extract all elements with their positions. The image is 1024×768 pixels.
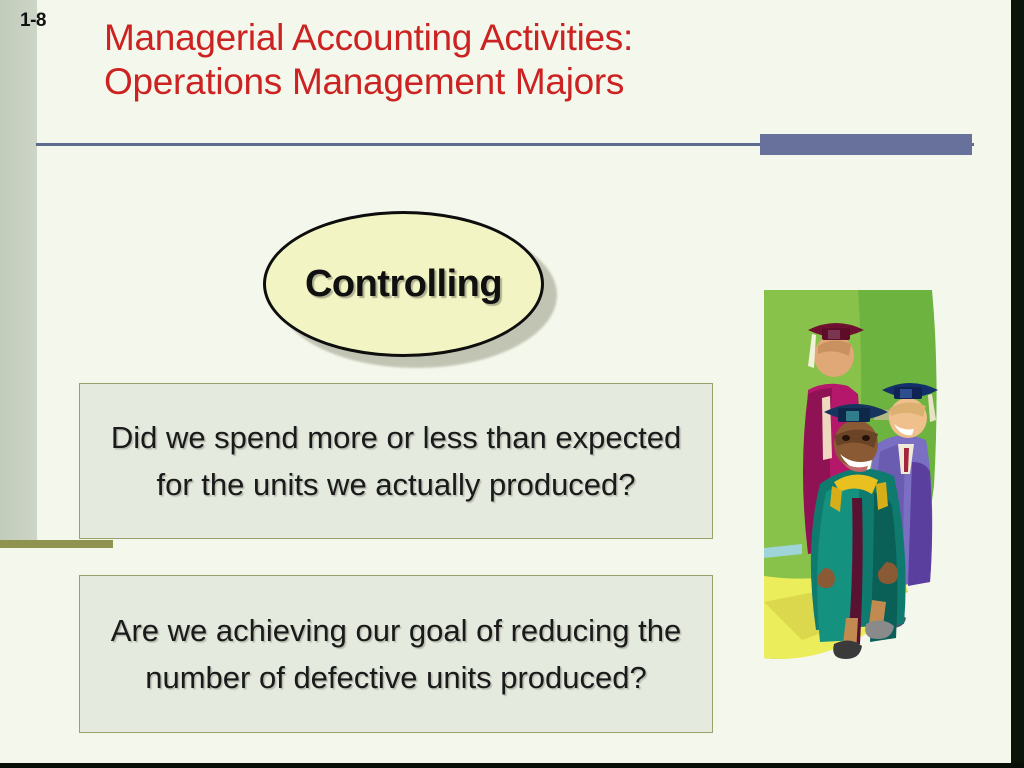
- slide-number: 1-8: [20, 10, 46, 32]
- question-box-1-text: Did we spend more or less than expected …: [80, 414, 712, 508]
- left-decorative-band: [0, 0, 37, 540]
- bottom-edge-band: [0, 763, 1024, 768]
- ellipse-label: Controlling: [305, 263, 502, 306]
- graduates-clipart-image: [762, 286, 942, 666]
- right-edge-band: [1011, 0, 1024, 768]
- question-box-2: Are we achieving our goal of reducing th…: [79, 575, 713, 733]
- question-box-2-text: Are we achieving our goal of reducing th…: [80, 607, 712, 701]
- header-divider-block: [760, 134, 972, 155]
- question-box-1: Did we spend more or less than expected …: [79, 383, 713, 539]
- presentation-slide: 1-8 Managerial Accounting Activities: Op…: [0, 0, 1024, 768]
- title-line-2: Operations Management Majors: [104, 60, 924, 104]
- page-title: Managerial Accounting Activities: Operat…: [104, 16, 924, 103]
- left-band-accent-stripe: [0, 540, 113, 548]
- controlling-ellipse: Controlling: [263, 211, 544, 357]
- title-line-1: Managerial Accounting Activities:: [104, 16, 924, 60]
